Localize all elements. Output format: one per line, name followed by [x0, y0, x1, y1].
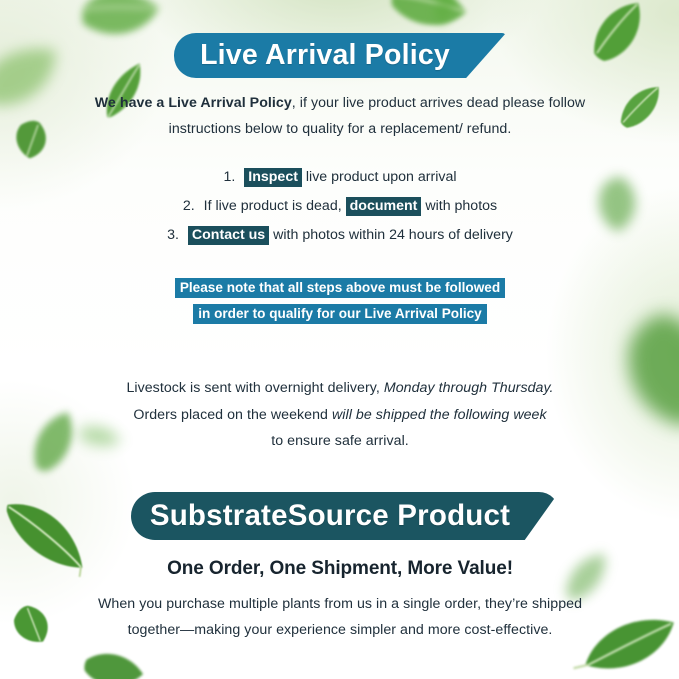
product-banner-title: SubstrateSource Product — [150, 499, 510, 533]
step-highlight: Contact us — [188, 226, 269, 245]
intro-paragraph: We have a Live Arrival Policy, if your l… — [70, 90, 610, 142]
closing-paragraph: When you purchase multiple plants from u… — [78, 592, 602, 643]
leaf-icon — [422, 0, 473, 30]
policy-note-text: Please note that all steps above must be… — [175, 278, 505, 298]
step-post-text: live product upon arrival — [306, 169, 457, 185]
step-number: 3. — [167, 227, 179, 243]
leaf-icon — [72, 0, 165, 57]
policy-note-line-1: Please note that all steps above must be… — [70, 275, 610, 301]
policy-note-text: in order to qualify for our Live Arrival… — [193, 304, 487, 324]
policy-note: Please note that all steps above must be… — [70, 275, 610, 327]
step-post-text: with photos within 24 hours of delivery — [273, 227, 513, 243]
live-arrival-banner: Live Arrival Policy — [174, 33, 506, 78]
leaf-icon — [6, 599, 61, 651]
shipping-line-1-italic: Monday through Thursday. — [384, 380, 554, 396]
shipping-line-2-plain: Orders placed on the weekend — [133, 407, 328, 423]
value-subheading: One Order, One Shipment, More Value! — [70, 558, 610, 580]
policy-note-line-2: in order to qualify for our Live Arrival… — [70, 301, 610, 327]
intro-line-2: instructions below to quality for a repl… — [169, 121, 512, 137]
step-number: 1. — [223, 169, 235, 185]
step-post-text: with photos — [425, 198, 497, 214]
step-pre-text: If live product is dead, — [204, 198, 342, 214]
step-highlight: document — [346, 197, 422, 216]
leaf-icon — [15, 404, 96, 483]
step-highlight: Inspect — [244, 168, 302, 187]
live-arrival-banner-title: Live Arrival Policy — [200, 39, 450, 72]
shipping-line-1-plain: Livestock is sent with overnight deliver… — [126, 380, 379, 396]
leaf-icon — [612, 307, 679, 438]
leaf-icon — [4, 113, 60, 167]
list-item: 1. Inspect live product upon arrival — [70, 163, 610, 192]
list-item: 2. If live product is dead, document wit… — [70, 192, 610, 221]
leaf-icon — [577, 0, 662, 74]
list-item: 3. Contact us with photos within 24 hour… — [70, 221, 610, 250]
intro-rest: , if your live product arrives dead plea… — [292, 95, 585, 111]
step-number: 2. — [183, 198, 195, 214]
leaf-icon — [611, 81, 672, 136]
shipping-line-3: to ensure safe arrival. — [271, 433, 409, 449]
promo-graphic: Live Arrival Policy We have a Live Arriv… — [0, 0, 679, 679]
substratesource-product-banner: SubstrateSource Product — [131, 492, 559, 540]
leaf-icon — [0, 36, 70, 120]
steps-list: 1. Inspect live product upon arrival 2. … — [70, 163, 610, 250]
closing-line-1: When you purchase multiple plants from u… — [98, 596, 582, 612]
intro-bold-phrase: We have a Live Arrival Policy — [95, 95, 292, 111]
shipping-paragraph: Livestock is sent with overnight deliver… — [90, 375, 590, 455]
shipping-line-2-italic: will be shipped the following week — [332, 407, 547, 423]
closing-line-2: together—making your experience simpler … — [128, 622, 553, 638]
